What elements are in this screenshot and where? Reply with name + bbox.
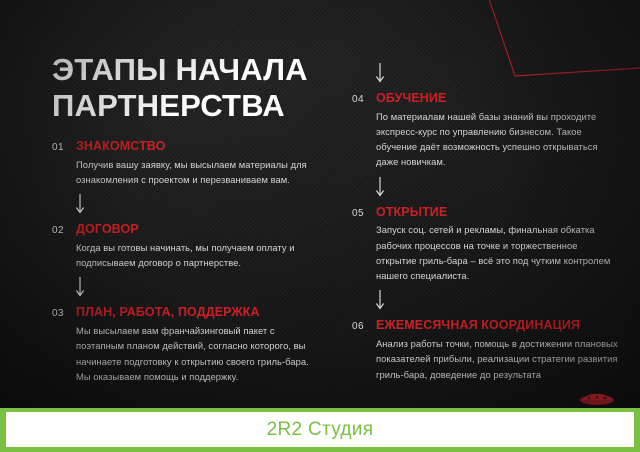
step-item: 01 ЗНАКОМСТВО Получив вашу заявку, мы вы… <box>52 140 320 187</box>
presentation-slide: ЭТАПЫ НАЧАЛА ПАРТНЕРСТВА 01 ЗНАКОМСТВО П… <box>0 0 640 452</box>
arrow-down-icon <box>373 290 387 312</box>
step-number: 02 <box>52 225 67 236</box>
steps-column-right: 04 ОБУЧЕНИЕ По материалам нашей базы зна… <box>352 56 620 386</box>
arrow-down-icon <box>373 177 387 199</box>
step-number: 06 <box>352 321 367 332</box>
step-body: Анализ работы точки, помощь в достижении… <box>376 336 620 382</box>
page-title: ЭТАПЫ НАЧАЛА ПАРТНЕРСТВА <box>52 52 352 125</box>
step-header: 02 ДОГОВОР <box>52 223 320 237</box>
slide-content: ЭТАПЫ НАЧАЛА ПАРТНЕРСТВА 01 ЗНАКОМСТВО П… <box>0 0 640 408</box>
step-title: ЗНАКОМСТВО <box>76 140 165 154</box>
arrow-down-icon <box>73 194 87 216</box>
step-number: 01 <box>52 142 67 153</box>
step-item: 03 ПЛАН, РАБОТА, ПОДДЕРЖКА Мы высылаем в… <box>52 306 320 384</box>
step-body: По материалам нашей базы знаний вы прохо… <box>376 109 620 170</box>
arrow-down-icon <box>373 63 387 85</box>
step-number: 05 <box>352 208 367 219</box>
step-item: 02 ДОГОВОР Когда вы готовы начинать, мы … <box>52 223 320 270</box>
step-body: Когда вы готовы начинать, мы получаем оп… <box>76 240 320 270</box>
step-header: 03 ПЛАН, РАБОТА, ПОДДЕРЖКА <box>52 306 320 320</box>
step-number: 04 <box>352 94 367 105</box>
step-number: 03 <box>52 308 67 319</box>
footer-banner: 2R2 Студия <box>0 408 640 452</box>
step-title: ОБУЧЕНИЕ <box>376 92 446 106</box>
footer-brand-label: 2R2 Студия <box>267 419 374 441</box>
step-header: 01 ЗНАКОМСТВО <box>52 140 320 154</box>
step-title: ДОГОВОР <box>76 223 139 237</box>
step-header: 05 ОТКРЫТИЕ <box>352 206 620 220</box>
step-header: 04 ОБУЧЕНИЕ <box>352 92 620 106</box>
arrow-down-icon <box>73 277 87 299</box>
step-body: Получив вашу заявку, мы высылаем материа… <box>76 157 320 187</box>
step-item: 06 ЕЖЕМЕСЯЧНАЯ КООРДИНАЦИЯ Анализ работы… <box>352 319 620 381</box>
step-title: ПЛАН, РАБОТА, ПОДДЕРЖКА <box>76 306 260 320</box>
step-body: Запуск соц. сетей и рекламы, финальная о… <box>376 222 620 283</box>
steps-column-left: 01 ЗНАКОМСТВО Получив вашу заявку, мы вы… <box>52 140 320 388</box>
footer-banner-inner: 2R2 Студия <box>6 412 634 447</box>
step-item: 05 ОТКРЫТИЕ Запуск соц. сетей и рекламы,… <box>352 206 620 284</box>
step-body: Мы высылаем вам франчайзинговый пакет с … <box>76 323 320 384</box>
step-title: ОТКРЫТИЕ <box>376 206 447 220</box>
step-item: 04 ОБУЧЕНИЕ По материалам нашей базы зна… <box>352 92 620 170</box>
step-header: 06 ЕЖЕМЕСЯЧНАЯ КООРДИНАЦИЯ <box>352 319 620 333</box>
step-title: ЕЖЕМЕСЯЧНАЯ КООРДИНАЦИЯ <box>376 319 580 333</box>
